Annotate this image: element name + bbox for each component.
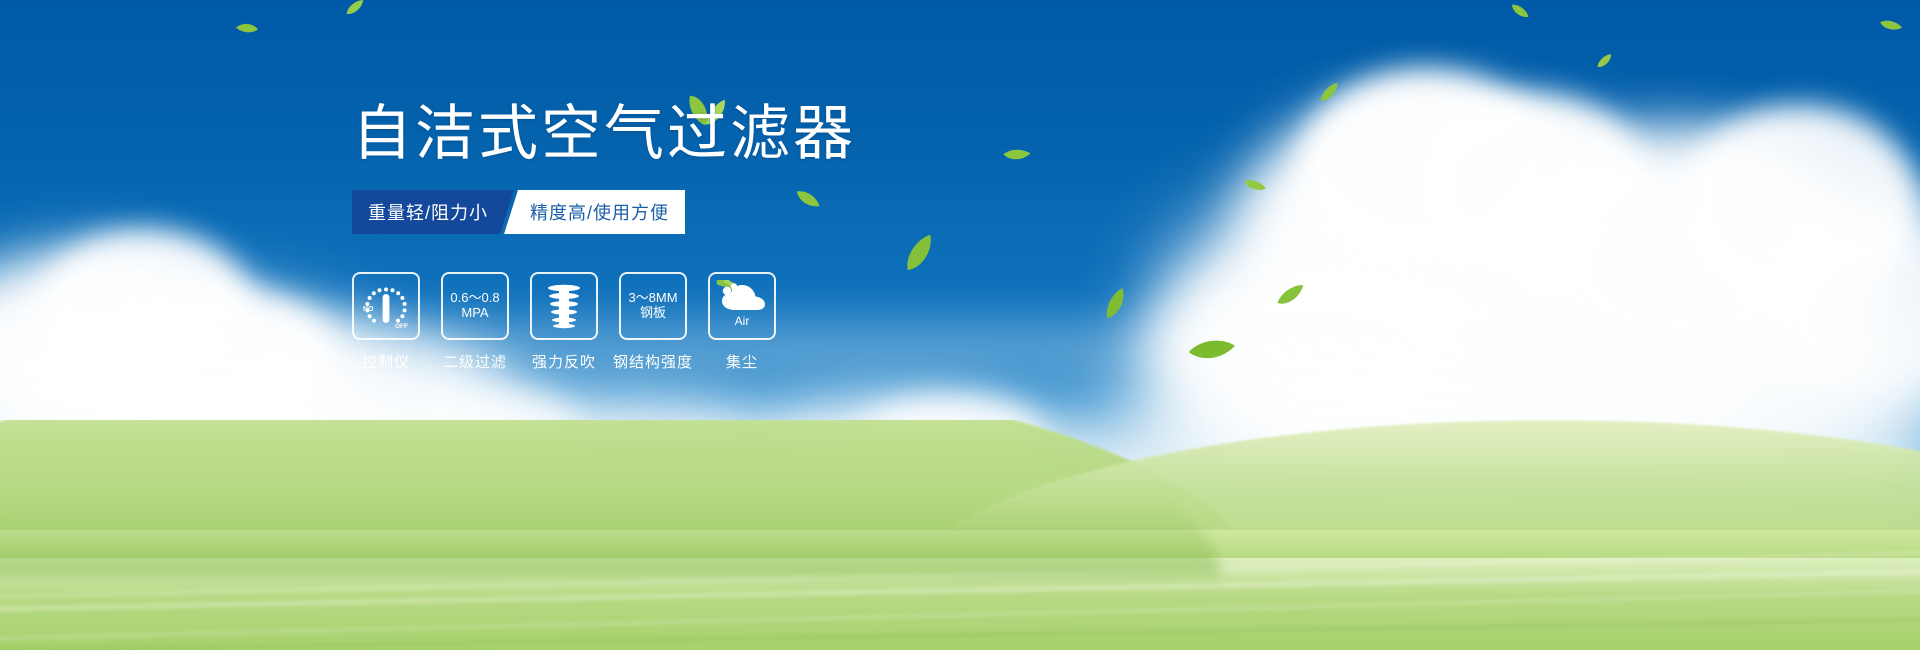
- grass-layer: [0, 420, 1920, 650]
- feature-icon-box: 3～8MM 钢板: [619, 272, 687, 340]
- feature-list: NO OFF 控制仪 0.6～0.8 MPA 二级过滤: [352, 272, 1072, 372]
- feature-label: 集尘: [726, 351, 758, 372]
- product-banner: 自洁式空气过滤器 重量轻/阻力小 精度高/使用方便: [0, 0, 1920, 650]
- leaf-icon: [1243, 174, 1268, 197]
- feature-box-text: 0.6～0.8: [450, 291, 499, 306]
- leaf-icon: [1510, 0, 1530, 23]
- banner-content: 自洁式空气过滤器 重量轻/阻力小 精度高/使用方便: [352, 104, 1072, 372]
- feature-box-subtext: Air: [735, 315, 750, 329]
- feature-icon-box: 0.6～0.8 MPA: [441, 272, 509, 340]
- feature-item-steel-plate: 3～8MM 钢板 钢结构强度: [619, 272, 687, 372]
- feature-icon-box: NO OFF: [352, 272, 420, 340]
- svg-text:NO: NO: [363, 306, 374, 313]
- feature-item-control-gauge: NO OFF 控制仪: [352, 272, 420, 372]
- feature-label: 二级过滤: [443, 351, 507, 372]
- feature-label: 控制仪: [362, 351, 410, 372]
- svg-text:OFF: OFF: [395, 323, 408, 329]
- leaf-icon: [1879, 15, 1904, 37]
- feature-item-dust: Air 集尘: [708, 272, 776, 372]
- feature-label: 强力反吹: [532, 351, 596, 372]
- tagline-badges: 重量轻/阻力小 精度高/使用方便: [352, 190, 672, 234]
- feature-item-pressure: 0.6～0.8 MPA 二级过滤: [441, 272, 509, 372]
- feature-icon-box: Air: [708, 272, 776, 340]
- dust-cloud-icon: [716, 280, 768, 314]
- filter-cartridge-icon: [540, 283, 588, 329]
- feature-box-subtext: MPA: [461, 306, 488, 321]
- leaf-icon: [1595, 53, 1615, 69]
- leaf-icon: [344, 0, 366, 16]
- feature-item-blowback: 强力反吹: [530, 272, 598, 372]
- feature-box-subtext: 钢板: [640, 306, 666, 321]
- feature-box-text: 3～8MM: [628, 291, 677, 306]
- feature-label: 钢结构强度: [613, 351, 693, 372]
- feature-icon-box: [530, 272, 598, 340]
- leaf-icon: [1316, 82, 1343, 104]
- page-title: 自洁式空气过滤器: [352, 104, 1072, 164]
- leaf-icon: [234, 17, 260, 39]
- gauge-dial-icon: NO OFF: [361, 283, 411, 329]
- tagline-badge-primary: 重量轻/阻力小: [352, 190, 514, 234]
- leaf-icon: [1098, 287, 1133, 321]
- leaf-icon: [1188, 333, 1237, 368]
- tagline-badge-secondary: 精度高/使用方便: [504, 190, 685, 234]
- leaf-icon: [1275, 284, 1308, 306]
